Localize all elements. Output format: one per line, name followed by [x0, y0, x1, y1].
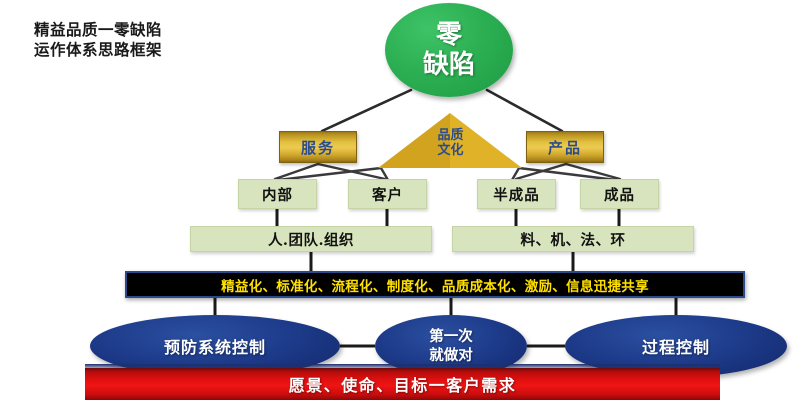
page-title: 精益品质一零缺陷 运作体系思路框架 [34, 20, 294, 60]
resource-bar-material-machine-method-env[interactable]: 料、机、法、环 [452, 226, 694, 252]
category-box-internal[interactable]: 内部 [238, 179, 317, 209]
resource-bar-people-team-org[interactable]: 人.团队.组织 [190, 226, 432, 252]
category-box-finished-goods[interactable]: 成品 [580, 179, 659, 209]
methods-bar[interactable]: 精益化、标准化、流程化、制度化、品质成本化、激励、信息迅捷共享 [125, 271, 745, 298]
link-service-customer [318, 164, 385, 179]
link-product-semi [516, 164, 566, 179]
link-product-finished [566, 164, 620, 179]
goal-ellipse-zero-defect[interactable]: 零 缺陷 [385, 3, 513, 97]
diagram-canvas: 精益品质一零缺陷 运作体系思路框架 零 缺陷 品质 文化 服务 产品 内部 客户… [0, 0, 800, 400]
category-box-semi-finished[interactable]: 半成品 [477, 179, 556, 209]
link-service-internal [275, 164, 318, 179]
pillar-box-service[interactable]: 服务 [279, 131, 357, 163]
pillar-box-product[interactable]: 产品 [526, 131, 604, 163]
pyramid-label: 品质 文化 [378, 128, 523, 158]
quality-culture-pyramid[interactable]: 品质 文化 [378, 113, 523, 168]
foundation-bar-vision-mission-goal[interactable]: 愿景、使命、目标一客户需求 [85, 368, 720, 400]
category-box-customer[interactable]: 客户 [348, 179, 427, 209]
